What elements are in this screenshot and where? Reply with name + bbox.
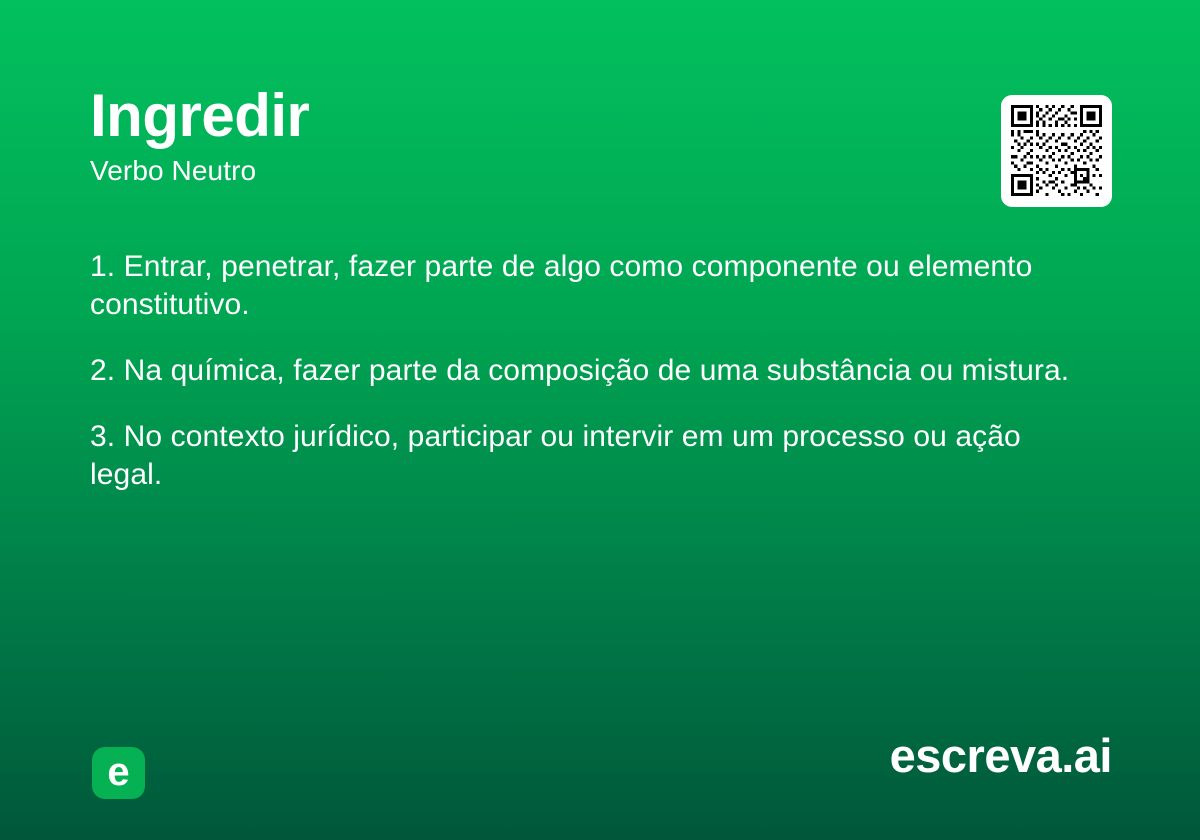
word-class-label: Verbo Neutro bbox=[90, 156, 950, 187]
qr-code-icon[interactable] bbox=[1001, 95, 1112, 207]
logo-letter: e bbox=[107, 752, 129, 792]
list-item: 2. Na química, fazer parte da composição… bbox=[90, 352, 1100, 390]
word-definition-card: Ingredir Verbo Neutro bbox=[0, 0, 1200, 840]
brand-name: escreva.ai bbox=[890, 732, 1112, 779]
page-title: Ingredir bbox=[90, 84, 950, 148]
escreva-logo-icon[interactable]: e bbox=[92, 747, 145, 799]
card-footer: e escreva.ai bbox=[0, 710, 1200, 840]
entry-header: Ingredir Verbo Neutro bbox=[90, 84, 950, 186]
definition-list: 1. Entrar, penetrar, fazer parte de algo… bbox=[90, 248, 1100, 494]
list-item: 1. Entrar, penetrar, fazer parte de algo… bbox=[90, 248, 1100, 324]
list-item: 3. No contexto jurídico, participar ou i… bbox=[90, 418, 1100, 494]
